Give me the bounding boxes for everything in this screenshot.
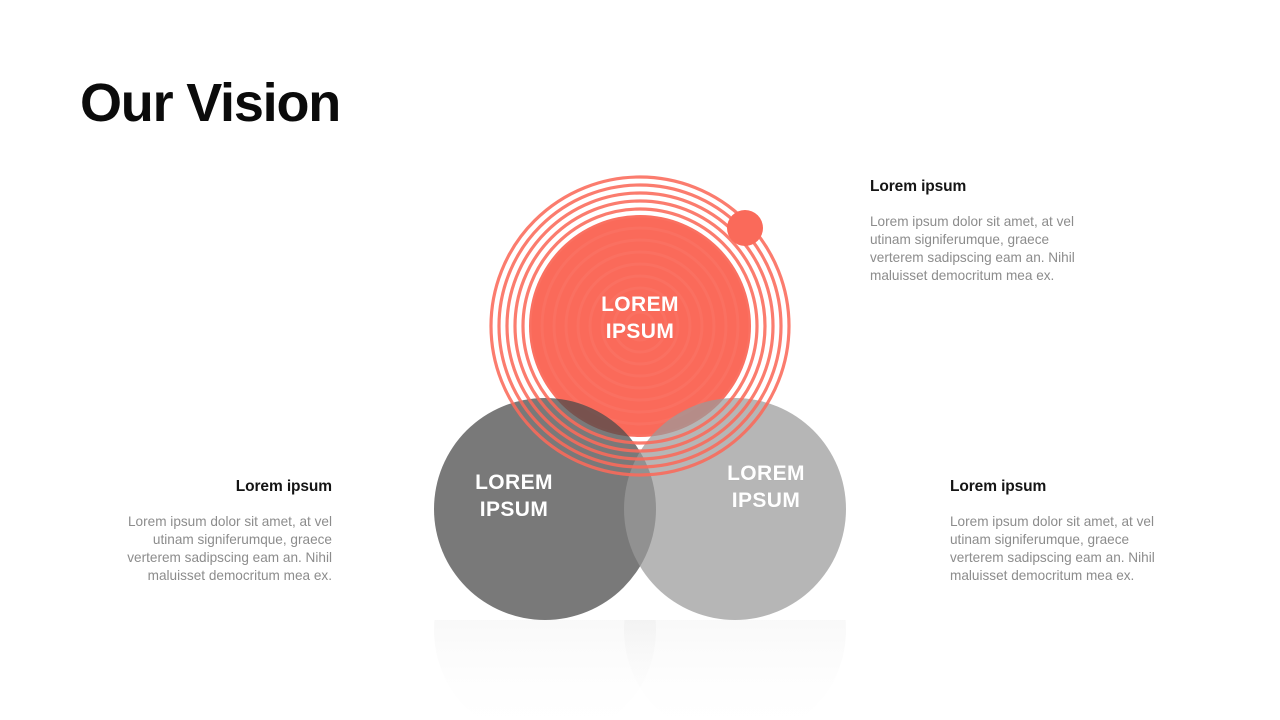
text-block-body: Lorem ipsum dolor sit amet, at vel utina… bbox=[950, 513, 1184, 585]
text-block-top-right: Lorem ipsum Lorem ipsum dolor sit amet, … bbox=[870, 178, 1104, 285]
text-block-heading: Lorem ipsum bbox=[98, 478, 332, 496]
text-block-heading: Lorem ipsum bbox=[950, 478, 1184, 496]
venn-diagram: LOREM IPSUM LOREM IPSUM LOREM IPSUM bbox=[400, 170, 880, 690]
venn-circles bbox=[434, 215, 846, 620]
text-block-body: Lorem ipsum dolor sit amet, at vel utina… bbox=[98, 513, 332, 585]
text-block-heading: Lorem ipsum bbox=[870, 178, 1104, 196]
page-title: Our Vision bbox=[80, 74, 340, 133]
text-block-bottom-right: Lorem ipsum Lorem ipsum dolor sit amet, … bbox=[950, 478, 1184, 585]
text-block-body: Lorem ipsum dolor sit amet, at vel utina… bbox=[870, 213, 1104, 285]
slide-canvas: Our Vision bbox=[0, 0, 1280, 720]
venn-svg bbox=[400, 170, 880, 690]
text-block-bottom-left: Lorem ipsum Lorem ipsum dolor sit amet, … bbox=[98, 478, 332, 585]
accent-dot bbox=[727, 210, 763, 246]
